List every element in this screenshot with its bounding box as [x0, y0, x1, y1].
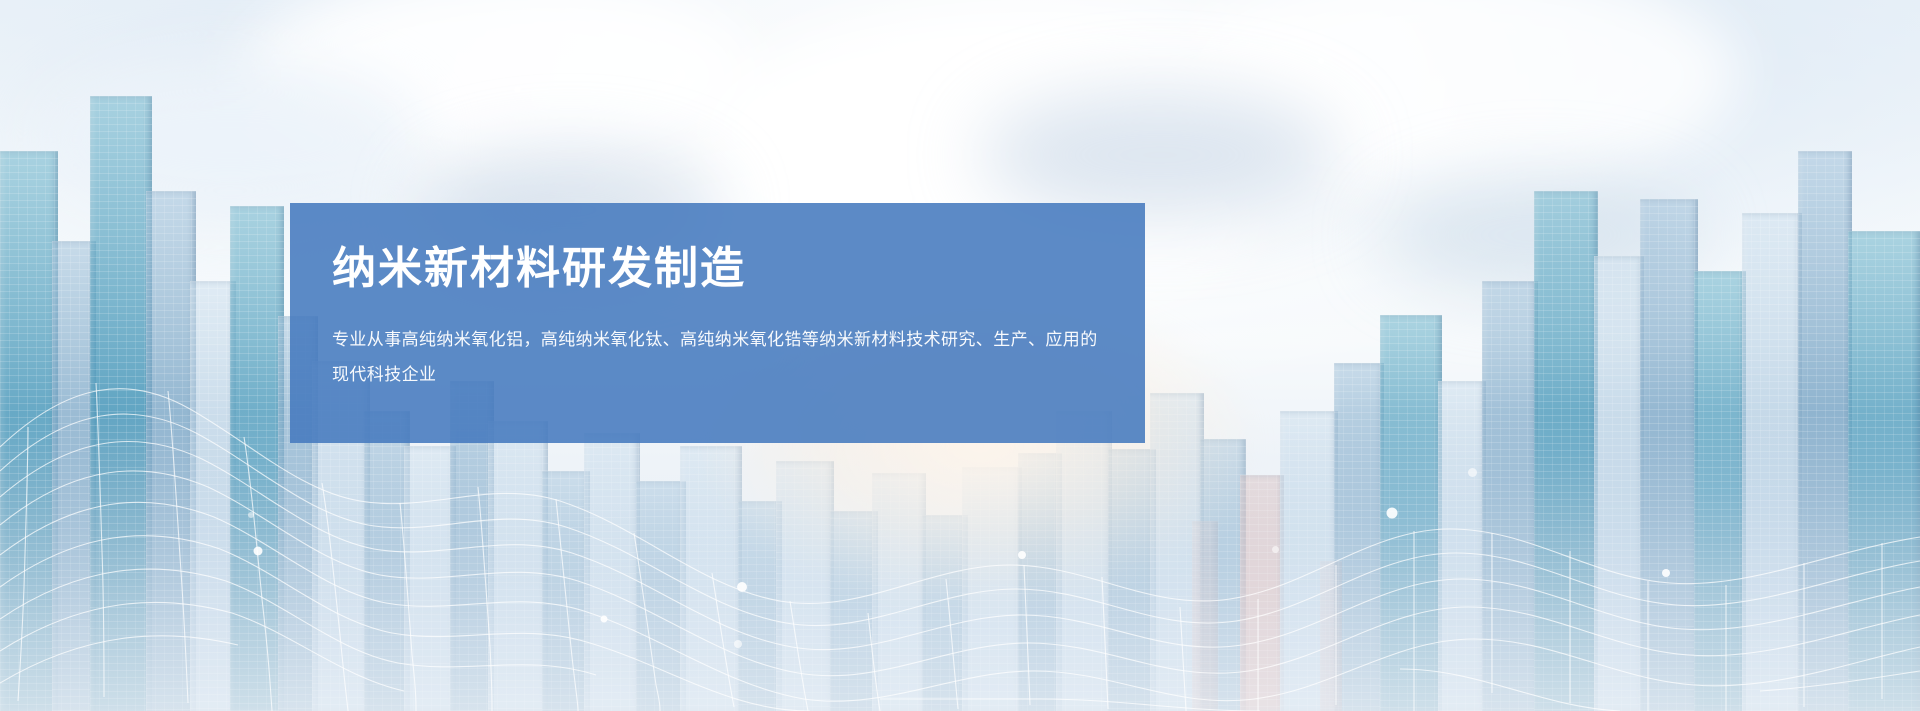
building [584, 433, 640, 711]
building [1192, 521, 1218, 711]
building [636, 481, 686, 711]
hero-subtitle: 专业从事高纯纳米氧化铝，高纯纳米氧化钛、高纯纳米氧化锆等纳米新材料技术研究、生产… [332, 293, 1099, 393]
building [1482, 281, 1538, 711]
building [1438, 381, 1486, 711]
building [1534, 191, 1598, 711]
building [230, 206, 284, 711]
building [90, 96, 152, 711]
building [488, 421, 548, 711]
building [1320, 561, 1342, 711]
building [1798, 151, 1852, 711]
building [830, 511, 878, 711]
building [1742, 213, 1802, 711]
building [962, 467, 1022, 711]
building [1380, 315, 1442, 711]
building [1640, 199, 1698, 711]
hero-content-panel: 纳米新材料研发制造 专业从事高纯纳米氧化铝，高纯纳米氧化钛、高纯纳米氧化锆等纳米… [290, 203, 1145, 443]
hero-banner: 纳米新材料研发制造 专业从事高纯纳米氧化铝，高纯纳米氧化钛、高纯纳米氧化锆等纳米… [0, 0, 1920, 711]
building [680, 446, 742, 711]
building [146, 191, 196, 711]
building [1848, 231, 1920, 711]
hero-title: 纳米新材料研发制造 [332, 245, 1099, 293]
building [872, 473, 926, 711]
building [776, 461, 834, 711]
building [1108, 449, 1156, 711]
building [0, 151, 58, 711]
building [542, 471, 590, 711]
building [1594, 256, 1644, 711]
building [1694, 271, 1746, 711]
building [1056, 411, 1112, 711]
building [1240, 475, 1284, 711]
building [404, 446, 456, 711]
